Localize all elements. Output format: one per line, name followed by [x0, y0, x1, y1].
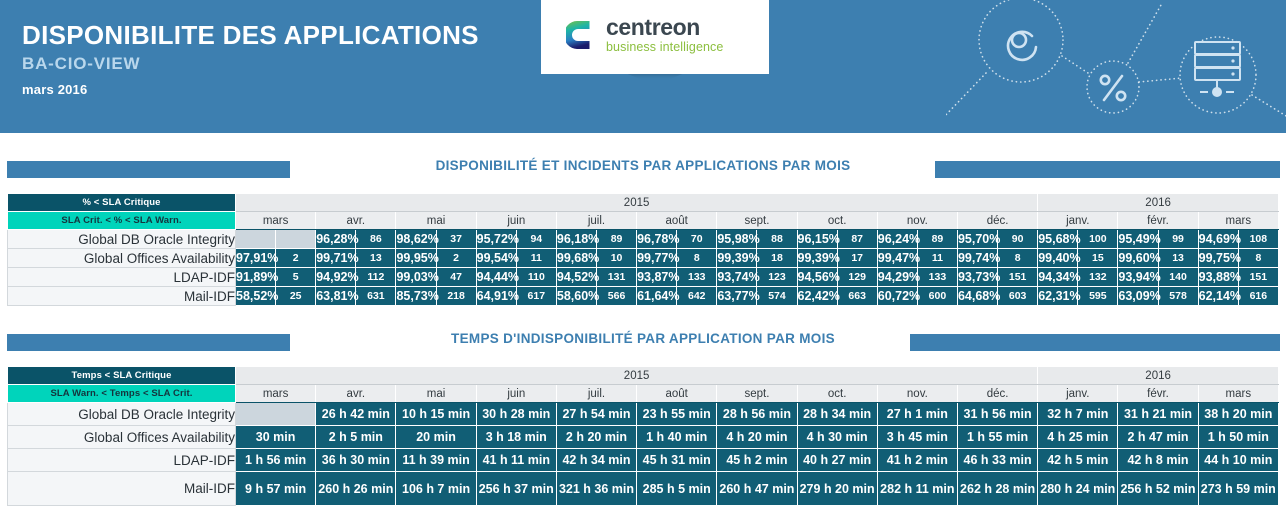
downtime-cell: 41 h 2 min [877, 449, 957, 472]
server-node-circle [1180, 37, 1256, 113]
incident-count-cell: 8 [1238, 249, 1278, 268]
downtime-cell [236, 403, 316, 426]
row-label: LDAP-IDF [8, 449, 236, 472]
row-label: Global DB Oracle Integrity [8, 403, 236, 426]
downtime-cell: 321 h 36 min [556, 472, 636, 506]
downtime-cell: 42 h 34 min [556, 449, 636, 472]
month-header: mars [236, 385, 316, 403]
month-header: oct. [797, 385, 877, 403]
legend-warning: SLA Warn. < Temps < SLA Crit. [8, 385, 236, 403]
incident-count-cell: 151 [998, 268, 1038, 287]
incident-count-cell: 133 [917, 268, 957, 287]
month-header: janv. [1038, 212, 1118, 230]
downtime-cell: 282 h 11 min [877, 472, 957, 506]
network-decoration [946, 0, 1286, 133]
incident-count-cell: 616 [1238, 287, 1278, 306]
incident-count-cell: 131 [596, 268, 636, 287]
availability-percent-cell: 64,68% [957, 287, 997, 306]
incident-count-cell: 151 [1238, 268, 1278, 287]
downtime-cell: 2 h 5 min [316, 426, 396, 449]
incident-count-cell: 13 [1158, 249, 1198, 268]
table-row: LDAP-IDF91,89%594,92%11299,03%4794,44%11… [8, 268, 1279, 287]
table-row: Global Offices Availability30 min2 h 5 m… [8, 426, 1279, 449]
availability-percent-cell: 99,39% [717, 249, 757, 268]
availability-percent-cell: 58,60% [556, 287, 596, 306]
availability-percent-cell: 61,64% [637, 287, 677, 306]
availability-percent-cell: 58,52% [236, 287, 276, 306]
availability-percent-cell: 99,03% [396, 268, 436, 287]
month-header: avr. [316, 212, 396, 230]
downtime-cell: 1 h 50 min [1198, 426, 1278, 449]
incident-count-cell: 110 [516, 268, 556, 287]
availability-percent-cell: 94,29% [877, 268, 917, 287]
incident-count-cell: 13 [356, 249, 396, 268]
downtime-cell: 260 h 26 min [316, 472, 396, 506]
availability-percent-cell: 99,54% [476, 249, 516, 268]
centreon-c-logo-icon [566, 19, 597, 51]
month-header: mars [1198, 212, 1278, 230]
incident-count-cell: 108 [1238, 230, 1278, 249]
downtime-cell: 42 h 8 min [1118, 449, 1198, 472]
availability-percent-cell: 96,15% [797, 230, 837, 249]
incident-count-cell: 70 [677, 230, 717, 249]
logo-tagline: business intelligence [606, 41, 723, 54]
page-title: DISPONIBILITE DES APPLICATIONS [22, 20, 479, 50]
availability-percent-cell: 95,68% [1038, 230, 1078, 249]
year-header: 2016 [1038, 367, 1279, 385]
downtime-cell: 26 h 42 min [316, 403, 396, 426]
incident-count-cell: 88 [757, 230, 797, 249]
incident-count-cell: 90 [998, 230, 1038, 249]
table-header-year-row: % < SLA Critique20152016 [8, 194, 1279, 212]
downtime-cell: 2 h 47 min [1118, 426, 1198, 449]
availability-percent-cell: 99,77% [637, 249, 677, 268]
table-header-month-row: SLA Warn. < Temps < SLA Crit.marsavr.mai… [8, 385, 1279, 403]
downtime-table-wrap: Temps < SLA Critique20152016SLA Warn. < … [0, 366, 1286, 506]
downtime-cell: 4 h 20 min [717, 426, 797, 449]
incident-count-cell: 89 [917, 230, 957, 249]
incident-count-cell: 15 [1078, 249, 1118, 268]
availability-percent-cell: 62,14% [1198, 287, 1238, 306]
downtime-cell: 30 h 28 min [476, 403, 556, 426]
availability-percent-cell: 94,34% [1038, 268, 1078, 287]
availability-percent-cell: 99,60% [1118, 249, 1158, 268]
downtime-cell: 10 h 15 min [396, 403, 476, 426]
downtime-cell: 27 h 1 min [877, 403, 957, 426]
month-header: nov. [877, 385, 957, 403]
incident-count-cell: 600 [917, 287, 957, 306]
incident-count-cell: 631 [356, 287, 396, 306]
year-header: 2016 [1038, 194, 1279, 212]
month-header: déc. [957, 212, 1037, 230]
section-header-downtime: TEMPS D'INDISPONIBILITÉ PAR APPLICATION … [0, 330, 1286, 354]
availability-table-wrap: % < SLA Critique20152016SLA Crit. < % < … [0, 193, 1286, 306]
incident-count-cell: 663 [837, 287, 877, 306]
incident-count-cell: 99 [1158, 230, 1198, 249]
availability-percent-cell: 62,42% [797, 287, 837, 306]
legend-critical: Temps < SLA Critique [8, 367, 236, 385]
incident-count-cell: 10 [596, 249, 636, 268]
incident-count-cell: 574 [757, 287, 797, 306]
percent-icon [1101, 76, 1125, 100]
header-titles: DISPONIBILITE DES APPLICATIONS BA-CIO-VI… [22, 20, 479, 100]
availability-percent-cell: 85,73% [396, 287, 436, 306]
availability-percent-cell: 98,62% [396, 230, 436, 249]
downtime-cell: 28 h 34 min [797, 403, 877, 426]
table-row: Global Offices Availability97,91%299,71%… [8, 249, 1279, 268]
downtime-cell: 9 h 57 min [236, 472, 316, 506]
incident-count-cell: 133 [677, 268, 717, 287]
legend-critical: % < SLA Critique [8, 194, 236, 212]
downtime-cell: 31 h 56 min [957, 403, 1037, 426]
availability-percent-cell: 94,92% [316, 268, 356, 287]
downtime-cell: 11 h 39 min [396, 449, 476, 472]
downtime-cell: 45 h 31 min [637, 449, 717, 472]
table-row: LDAP-IDF1 h 56 min36 h 30 min11 h 39 min… [8, 449, 1279, 472]
downtime-cell: 20 min [396, 426, 476, 449]
availability-percent-cell: 99,71% [316, 249, 356, 268]
row-label: Mail-IDF [8, 472, 236, 506]
downtime-cell: 46 h 33 min [957, 449, 1037, 472]
availability-percent-cell: 93,74% [717, 268, 757, 287]
availability-percent-cell: 99,95% [396, 249, 436, 268]
incident-count-cell: 603 [998, 287, 1038, 306]
availability-percent-cell: 96,28% [316, 230, 356, 249]
availability-percent-cell: 96,18% [556, 230, 596, 249]
availability-percent-cell: 62,31% [1038, 287, 1078, 306]
row-label: LDAP-IDF [8, 268, 236, 287]
table-row: Global DB Oracle Integrity26 h 42 min10 … [8, 403, 1279, 426]
downtime-cell: 28 h 56 min [717, 403, 797, 426]
month-header: juil. [556, 212, 636, 230]
availability-percent-cell: 95,72% [476, 230, 516, 249]
table-row: Mail-IDF9 h 57 min260 h 26 min106 h 7 mi… [8, 472, 1279, 506]
downtime-cell: 42 h 5 min [1038, 449, 1118, 472]
availability-percent-cell: 60,72% [877, 287, 917, 306]
downtime-cell: 1 h 56 min [236, 449, 316, 472]
availability-percent-cell: 93,87% [637, 268, 677, 287]
report-period: mars 2016 [22, 80, 479, 100]
month-header: avr. [316, 385, 396, 403]
month-header: août [637, 385, 717, 403]
logo-wordmark: centreon [606, 16, 723, 39]
month-header: sept. [717, 385, 797, 403]
downtime-cell: 1 h 40 min [637, 426, 717, 449]
section-accent-bar-right [935, 161, 1280, 178]
downtime-cell: 3 h 18 min [476, 426, 556, 449]
availability-percent-cell: 93,94% [1118, 268, 1158, 287]
availability-percent-cell: 96,78% [637, 230, 677, 249]
table-row: Mail-IDF58,52%2563,81%63185,73%21864,91%… [8, 287, 1279, 306]
incident-count-cell: 2 [436, 249, 476, 268]
incident-count-cell: 132 [1078, 268, 1118, 287]
downtime-cell: 40 h 27 min [797, 449, 877, 472]
month-header: sept. [717, 212, 797, 230]
section-accent-bar-right-2 [910, 334, 1280, 351]
month-header: juin [476, 212, 556, 230]
downtime-cell: 256 h 37 min [476, 472, 556, 506]
downtime-cell: 285 h 5 min [637, 472, 717, 506]
availability-percent-cell: 95,70% [957, 230, 997, 249]
month-header: févr. [1118, 212, 1198, 230]
month-header: mai [396, 212, 476, 230]
downtime-cell: 27 h 54 min [556, 403, 636, 426]
availability-percent-cell: 94,44% [476, 268, 516, 287]
incident-count-cell: 25 [276, 287, 316, 306]
month-header: déc. [957, 385, 1037, 403]
year-header: 2015 [236, 194, 1038, 212]
availability-percent-cell: 63,81% [316, 287, 356, 306]
downtime-cell: 262 h 28 min [957, 472, 1037, 506]
row-label: Mail-IDF [8, 287, 236, 306]
availability-percent-cell [236, 230, 276, 249]
incident-count-cell: 595 [1078, 287, 1118, 306]
month-header: févr. [1118, 385, 1198, 403]
month-header: mai [396, 385, 476, 403]
month-header: mars [1198, 385, 1278, 403]
row-label: Global Offices Availability [8, 426, 236, 449]
centreon-logo-plaque: centreon business intelligence [541, 0, 769, 74]
downtime-cell: 38 h 20 min [1198, 403, 1278, 426]
availability-percent-cell: 95,49% [1118, 230, 1158, 249]
table-header-month-row: SLA Crit. < % < SLA Warn.marsavr.maijuin… [8, 212, 1279, 230]
downtime-cell: 279 h 20 min [797, 472, 877, 506]
availability-table: % < SLA Critique20152016SLA Crit. < % < … [7, 193, 1279, 306]
downtime-table: Temps < SLA Critique20152016SLA Warn. < … [7, 366, 1279, 506]
availability-percent-cell: 99,74% [957, 249, 997, 268]
downtime-cell: 36 h 30 min [316, 449, 396, 472]
incident-count-cell: 642 [677, 287, 717, 306]
incident-count-cell: 218 [436, 287, 476, 306]
page-header-banner: DISPONIBILITE DES APPLICATIONS BA-CIO-VI… [0, 0, 1286, 133]
downtime-cell: 2 h 20 min [556, 426, 636, 449]
downtime-cell: 280 h 24 min [1038, 472, 1118, 506]
incident-count-cell: 140 [1158, 268, 1198, 287]
availability-percent-cell: 91,89% [236, 268, 276, 287]
incident-count-cell: 8 [998, 249, 1038, 268]
availability-percent-cell: 93,88% [1198, 268, 1238, 287]
downtime-cell: 1 h 55 min [957, 426, 1037, 449]
downtime-cell: 3 h 45 min [877, 426, 957, 449]
availability-percent-cell: 99,75% [1198, 249, 1238, 268]
downtime-cell: 45 h 2 min [717, 449, 797, 472]
incident-count-cell: 112 [356, 268, 396, 287]
incident-count-cell: 18 [757, 249, 797, 268]
incident-count-cell: 11 [917, 249, 957, 268]
incident-count-cell: 8 [677, 249, 717, 268]
table-header-year-row: Temps < SLA Critique20152016 [8, 367, 1279, 385]
at-node-circle [979, 0, 1063, 82]
availability-percent-cell: 63,77% [717, 287, 757, 306]
page-subtitle: BA-CIO-VIEW [22, 52, 479, 76]
incident-count-cell: 617 [516, 287, 556, 306]
incident-count-cell: 17 [837, 249, 877, 268]
availability-percent-cell: 64,91% [476, 287, 516, 306]
incident-count-cell: 86 [356, 230, 396, 249]
section-header-availability: DISPONIBILITÉ ET INCIDENTS PAR APPLICATI… [0, 157, 1286, 181]
availability-percent-cell: 63,09% [1118, 287, 1158, 306]
availability-percent-cell: 99,68% [556, 249, 596, 268]
server-icon [1195, 42, 1240, 97]
availability-percent-cell: 99,39% [797, 249, 837, 268]
availability-percent-cell: 94,69% [1198, 230, 1238, 249]
downtime-cell: 41 h 11 min [476, 449, 556, 472]
month-header: août [637, 212, 717, 230]
month-header: juin [476, 385, 556, 403]
availability-percent-cell: 99,47% [877, 249, 917, 268]
downtime-cell: 44 h 10 min [1198, 449, 1278, 472]
incident-count-cell: 566 [596, 287, 636, 306]
incident-count-cell: 123 [757, 268, 797, 287]
incident-count-cell: 100 [1078, 230, 1118, 249]
incident-count-cell: 578 [1158, 287, 1198, 306]
downtime-cell: 273 h 59 min [1198, 472, 1278, 506]
availability-percent-cell: 96,24% [877, 230, 917, 249]
availability-percent-cell: 93,73% [957, 268, 997, 287]
downtime-cell: 31 h 21 min [1118, 403, 1198, 426]
legend-warning: SLA Crit. < % < SLA Warn. [8, 212, 236, 230]
month-header: oct. [797, 212, 877, 230]
table-row: Global DB Oracle Integrity96,28%8698,62%… [8, 230, 1279, 249]
incident-count-cell: 94 [516, 230, 556, 249]
incident-count-cell: 11 [516, 249, 556, 268]
incident-count-cell: 2 [276, 249, 316, 268]
availability-percent-cell: 99,40% [1038, 249, 1078, 268]
downtime-cell: 106 h 7 min [396, 472, 476, 506]
downtime-cell: 4 h 25 min [1038, 426, 1118, 449]
downtime-cell: 4 h 30 min [797, 426, 877, 449]
availability-percent-cell: 94,52% [556, 268, 596, 287]
incident-count-cell: 47 [436, 268, 476, 287]
month-header: nov. [877, 212, 957, 230]
incident-count-cell: 129 [837, 268, 877, 287]
month-header: juil. [556, 385, 636, 403]
row-label: Global Offices Availability [8, 249, 236, 268]
row-label: Global DB Oracle Integrity [8, 230, 236, 249]
availability-percent-cell: 97,91% [236, 249, 276, 268]
incident-count-cell: 87 [837, 230, 877, 249]
incident-count-cell: 37 [436, 230, 476, 249]
downtime-cell: 23 h 55 min [637, 403, 717, 426]
downtime-cell: 30 min [236, 426, 316, 449]
month-header: janv. [1038, 385, 1118, 403]
incident-count-cell [276, 230, 316, 249]
downtime-cell: 32 h 7 min [1038, 403, 1118, 426]
year-header: 2015 [236, 367, 1038, 385]
availability-percent-cell: 94,56% [797, 268, 837, 287]
month-header: mars [236, 212, 316, 230]
downtime-cell: 256 h 52 min [1118, 472, 1198, 506]
availability-percent-cell: 95,98% [717, 230, 757, 249]
incident-count-cell: 89 [596, 230, 636, 249]
incident-count-cell: 5 [276, 268, 316, 287]
downtime-cell: 260 h 47 min [717, 472, 797, 506]
